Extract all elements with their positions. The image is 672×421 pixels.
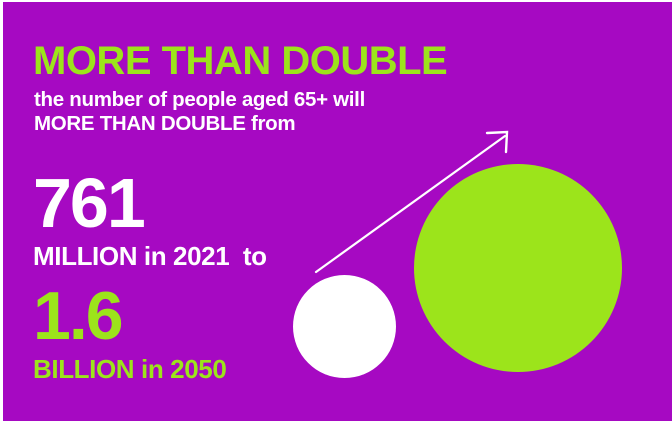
stat-population-2050: 1.6 BILLION in 2050 bbox=[33, 282, 453, 383]
headline: MORE THAN DOUBLE bbox=[33, 40, 447, 82]
stat-value-2050: 1.6 bbox=[33, 282, 453, 350]
stat-value-2021: 761 bbox=[33, 168, 453, 238]
stat-unit-2050: BILLION in 2050 bbox=[33, 355, 453, 383]
stat-unit-2021: MILLION in 2021 to bbox=[33, 242, 453, 270]
subhead-line-1: the number of people aged 65+ will bbox=[34, 88, 434, 112]
subhead-line-2: MORE THAN DOUBLE from bbox=[34, 112, 434, 136]
stat-population-2021: 761 MILLION in 2021 to bbox=[33, 168, 453, 270]
subhead: the number of people aged 65+ will MORE … bbox=[34, 88, 434, 136]
infographic-canvas: MORE THAN DOUBLE the number of people ag… bbox=[0, 0, 672, 421]
